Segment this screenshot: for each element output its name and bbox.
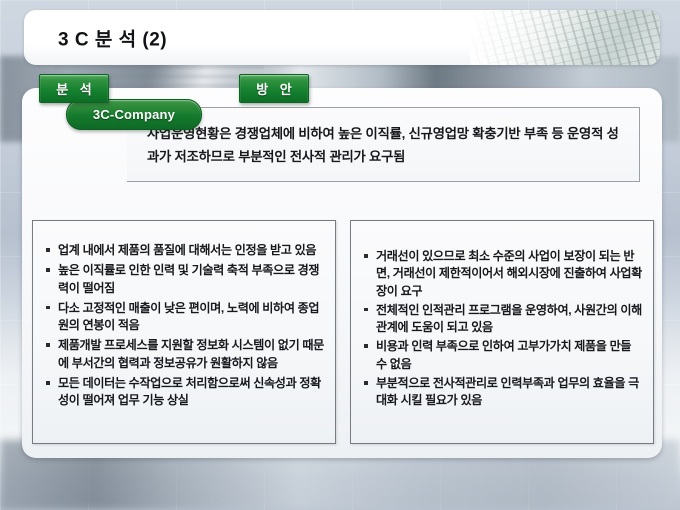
- analysis-panel-tab-label: 분 석: [52, 79, 96, 98]
- presentation-slide: 3 C 분 석 (2) 사업운영현황은 경쟁업체에 비하여 높은 이직률, 신규…: [0, 0, 680, 510]
- analysis-panel-tab: 분 석: [39, 74, 109, 103]
- company-badge: 3C-Company: [66, 99, 202, 130]
- list-item: 전체적인 인적관리 프로그램을 운영하여, 사원간의 이해관계에 도움이 되고 …: [363, 302, 643, 337]
- list-item: 부분적으로 전사적관리로 인력부족과 업무의 효율을 극대화 시킬 필요가 있음: [363, 375, 643, 410]
- list-item: 업계 내에서 제품의 품질에 대해서는 인정을 받고 있음: [45, 242, 325, 259]
- building-photo-decoration: [470, 10, 660, 65]
- analysis-panel: 업계 내에서 제품의 품질에 대해서는 인정을 받고 있음 높은 이직률로 인한…: [32, 220, 336, 444]
- slide-title-bar: 3 C 분 석 (2): [24, 10, 660, 65]
- summary-text: 사업운영현황은 경쟁업체에 비하여 높은 이직률, 신규영업망 확충기반 부족 …: [147, 122, 627, 168]
- list-item: 거래선이 있으므로 최소 수준의 사업이 보장이 되는 반면, 거래선이 제한적…: [363, 248, 643, 300]
- solution-panel-tab-label: 방 안: [252, 79, 296, 98]
- list-item: 비용과 인력 부족으로 인하여 고부가가치 제품을 만들 수 없음: [363, 338, 643, 373]
- solution-bullet-list: 거래선이 있으므로 최소 수준의 사업이 보장이 되는 반면, 거래선이 제한적…: [363, 248, 643, 412]
- list-item: 제품개발 프로세스를 지원할 정보화 시스템이 없기 때문에 부서간의 협력과 …: [45, 337, 325, 372]
- list-item: 모든 데이터는 수작업으로 처리함으로써 신속성과 정확성이 떨어져 업무 기능…: [45, 375, 325, 410]
- company-badge-label: 3C-Company: [93, 107, 175, 122]
- analysis-bullet-list: 업계 내에서 제품의 품질에 대해서는 인정을 받고 있음 높은 이직률로 인한…: [45, 242, 325, 413]
- summary-box: 사업운영현황은 경쟁업체에 비하여 높은 이직률, 신규영업망 확충기반 부족 …: [127, 107, 640, 182]
- content-card: 사업운영현황은 경쟁업체에 비하여 높은 이직률, 신규영업망 확충기반 부족 …: [22, 88, 662, 458]
- list-item: 다소 고정적인 매출이 낮은 편이며, 노력에 비하여 종업원의 연봉이 적음: [45, 300, 325, 335]
- page-title: 3 C 분 석 (2): [58, 24, 167, 51]
- solution-panel-tab: 방 안: [239, 74, 309, 103]
- list-item: 높은 이직률로 인한 인력 및 기술력 축적 부족으로 경쟁력이 떨어짐: [45, 262, 325, 297]
- solution-panel: 거래선이 있으므로 최소 수준의 사업이 보장이 되는 반면, 거래선이 제한적…: [350, 220, 654, 444]
